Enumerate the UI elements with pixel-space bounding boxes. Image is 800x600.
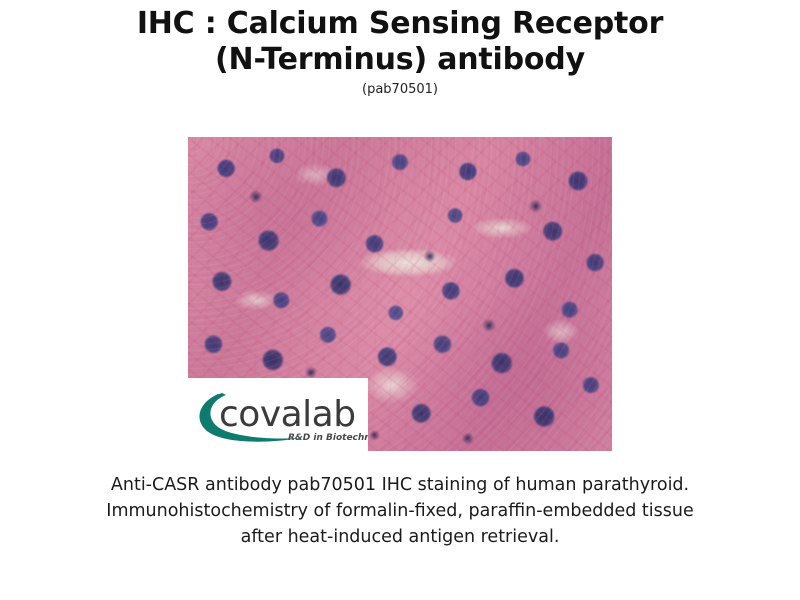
covalab-logo: covalab R&D in Biotechnology — [188, 378, 368, 451]
covalab-wordmark: covalab — [219, 394, 356, 435]
page-title-line-1: IHC : Calcium Sensing Receptor — [0, 6, 800, 42]
covalab-logo-box: covalab R&D in Biotechnology — [188, 378, 368, 451]
covalab-tagline: R&D in Biotechnology — [288, 433, 368, 443]
title-block: IHC : Calcium Sensing Receptor (N-Termin… — [0, 0, 800, 99]
page-title-line-2: (N-Terminus) antibody — [0, 42, 800, 78]
catalog-code: (pab70501) — [0, 81, 800, 99]
figure-caption: Anti-CASR antibody pab70501 IHC staining… — [100, 472, 700, 550]
covalab-logo-svg: covalab R&D in Biotechnology — [188, 378, 368, 451]
